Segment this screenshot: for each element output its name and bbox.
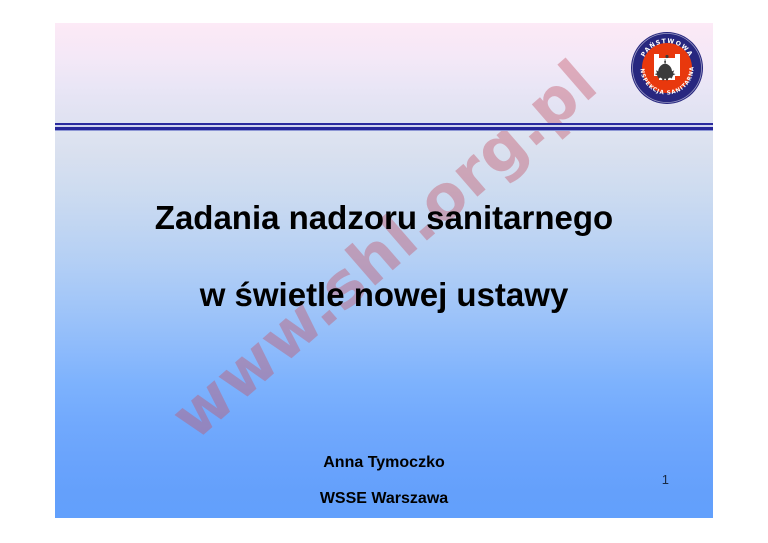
slide-title: Zadania nadzoru sanitarnego w świetle no… <box>55 201 713 311</box>
author-block: Anna Tymoczko WSSE Warszawa <box>55 455 713 507</box>
author-name: Anna Tymoczko <box>55 455 713 471</box>
slide-canvas: www.shl.org.pl PAŃST <box>55 23 713 518</box>
page-number: 1 <box>662 472 669 487</box>
pis-logo: PAŃSTWOWA INSPEKCJA SANITARNA <box>629 30 705 106</box>
title-line-2: w świetle nowej ustawy <box>55 278 713 311</box>
pis-logo-icon: PAŃSTWOWA INSPEKCJA SANITARNA <box>629 30 705 106</box>
author-affiliation: WSSE Warszawa <box>55 491 713 507</box>
title-line-1: Zadania nadzoru sanitarnego <box>55 201 713 234</box>
header-divider <box>55 100 713 128</box>
divider-line-shadow <box>55 130 713 131</box>
